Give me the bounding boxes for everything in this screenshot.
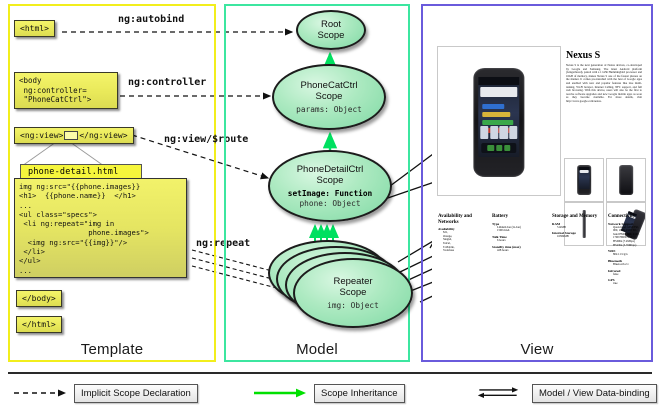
ngview-slot-icon [64, 131, 78, 140]
spec-values-internal-storage: 16384MB [552, 235, 608, 239]
scope-phonecat-name-1: PhoneCatCtrl [300, 80, 357, 91]
phone-hero-image[interactable] [437, 46, 561, 196]
code-html-close: </html> [16, 316, 62, 333]
legend-item-implicit: Implicit Scope Declaration [12, 382, 198, 404]
scope-repeater-name-1: Repeater [333, 276, 372, 287]
spec-values-infrared: false [608, 273, 644, 277]
phone-statusbar-icon [478, 77, 519, 86]
spec-heading-availability: Availability and Networks [438, 214, 484, 225]
scope-phonecat-name-2: Scope [316, 91, 343, 102]
scope-root-name-2: Scope [318, 30, 345, 41]
code-ngview: <ng:view></ng:view> [14, 127, 134, 144]
spec-heading-connectivity: Connectivity [608, 214, 644, 220]
spec-values-battery-type: Lithium Ion (Li-Ion)1500 mAh [492, 226, 546, 233]
phone-thumbnail-1[interactable] [564, 158, 604, 202]
edge-label-ng-autobind: ng:autobind [118, 14, 184, 25]
spec-column-storage: Storage and Memory RAM 512MB Internal St… [552, 214, 608, 239]
phone-searchbar-icon [481, 87, 517, 97]
spec-column-connectivity: Connectivity Network Support Quad-band G… [608, 214, 644, 286]
spec-heading-storage: Storage and Memory [552, 214, 608, 220]
phone-detail-callout: phone-detail.html img ng:src="{{phone.im… [14, 164, 189, 286]
spec-values-availability: M1,Orange,Singtel,Telcel,T-Mobile,Vodafo… [438, 231, 484, 253]
phone-line-yellow-icon [482, 112, 509, 117]
code-body-close: </body> [16, 290, 62, 307]
phone-detail-code: img ng:src="{{phone.images}} <h1> {{phon… [14, 178, 187, 278]
double-arrow-icon [470, 386, 526, 400]
view-rendered-page: Nexus S Nexus S is the next generation o… [432, 18, 644, 338]
spec-column-availability: Availability and Networks Availability M… [438, 214, 484, 253]
spec-values-ram: 512MB [552, 226, 608, 230]
spec-values-gps: true [608, 282, 644, 286]
scope-phonecatctrl[interactable]: PhoneCatCtrlScope params: Object [272, 64, 386, 130]
legend: Implicit Scope Declaration Scope Inherit… [8, 382, 652, 408]
spec-values-bluetooth: Bluetooth 2.1 [608, 263, 644, 267]
scope-repeater-name-2: Scope [340, 287, 367, 298]
phone-dock-icon [482, 143, 517, 153]
diagram-canvas: Template <html> <body ng:controller= "Ph… [0, 0, 660, 420]
legend-label-databinding: Model / View Data-binding [532, 384, 657, 403]
spec-heading-battery: Battery [492, 214, 546, 220]
phone-detail-filename: phone-detail.html [20, 164, 142, 179]
legend-label-implicit: Implicit Scope Declaration [74, 384, 198, 403]
spec-values-network-support: Quad-band GSM 850,900, 1800, 1900 Tri-ba… [608, 226, 644, 248]
scope-repeater-prop-img: img: Object [327, 301, 379, 310]
code-html-open: <html> [14, 20, 55, 37]
phone-name-heading: Nexus S [566, 50, 642, 61]
phone-line-green-icon [482, 120, 513, 125]
green-arrow-icon [252, 386, 308, 400]
code-body-open: <body ng:controller= "PhoneCatCtrl"> [14, 72, 118, 109]
spec-column-battery: Battery Type Lithium Ion (Li-Ion)1500 mA… [492, 214, 546, 252]
scope-phonedetail-name-2: Scope [317, 175, 344, 186]
legend-item-inheritance: Scope Inheritance [252, 382, 405, 404]
scope-phonedetail-prop-setimage: setImage: Function [288, 189, 373, 198]
legend-label-inheritance: Scope Inheritance [314, 384, 405, 403]
spec-values-wifi: 802.11 b/g/n [608, 253, 644, 257]
column-label-template: Template [10, 341, 214, 358]
ngview-close-tag: </ng:view> [79, 131, 127, 140]
column-label-model: Model [226, 341, 408, 358]
legend-divider [8, 372, 652, 374]
ngview-open-tag: <ng:view> [20, 131, 63, 140]
scope-repeater[interactable]: RepeaterScope img: Object [293, 258, 413, 328]
phone-thumbnail-2[interactable] [606, 158, 646, 202]
scope-phonedetailctrl[interactable]: PhoneDetailCtrlScope setImage: Functionp… [268, 150, 392, 222]
scope-root[interactable]: RootScope [296, 10, 366, 50]
phone-line-blue-icon [482, 104, 504, 109]
spec-values-standby: 428 hours [492, 249, 546, 253]
scope-root-name-1: Root [321, 19, 341, 30]
scope-phonedetail-name-1: PhoneDetailCtrl [297, 164, 364, 175]
phone-screen-icon [478, 77, 519, 157]
phone-specs-table: Availability and Networks Availability M… [436, 214, 642, 296]
legend-item-databinding: Model / View Data-binding [470, 382, 657, 404]
dashed-arrow-icon [12, 386, 68, 400]
phone-description-text: Nexus S is the next generation of Nexus … [566, 64, 642, 136]
spec-values-talk-time: 6 hours [492, 239, 546, 243]
column-label-view: View [423, 341, 651, 358]
edge-label-ng-controller: ng:controller [128, 77, 206, 88]
scope-phonecat-prop-params: params: Object [296, 105, 362, 114]
scope-phonedetail-prop-phone: phone: Object [299, 199, 360, 208]
phone-app-icons [480, 126, 517, 139]
